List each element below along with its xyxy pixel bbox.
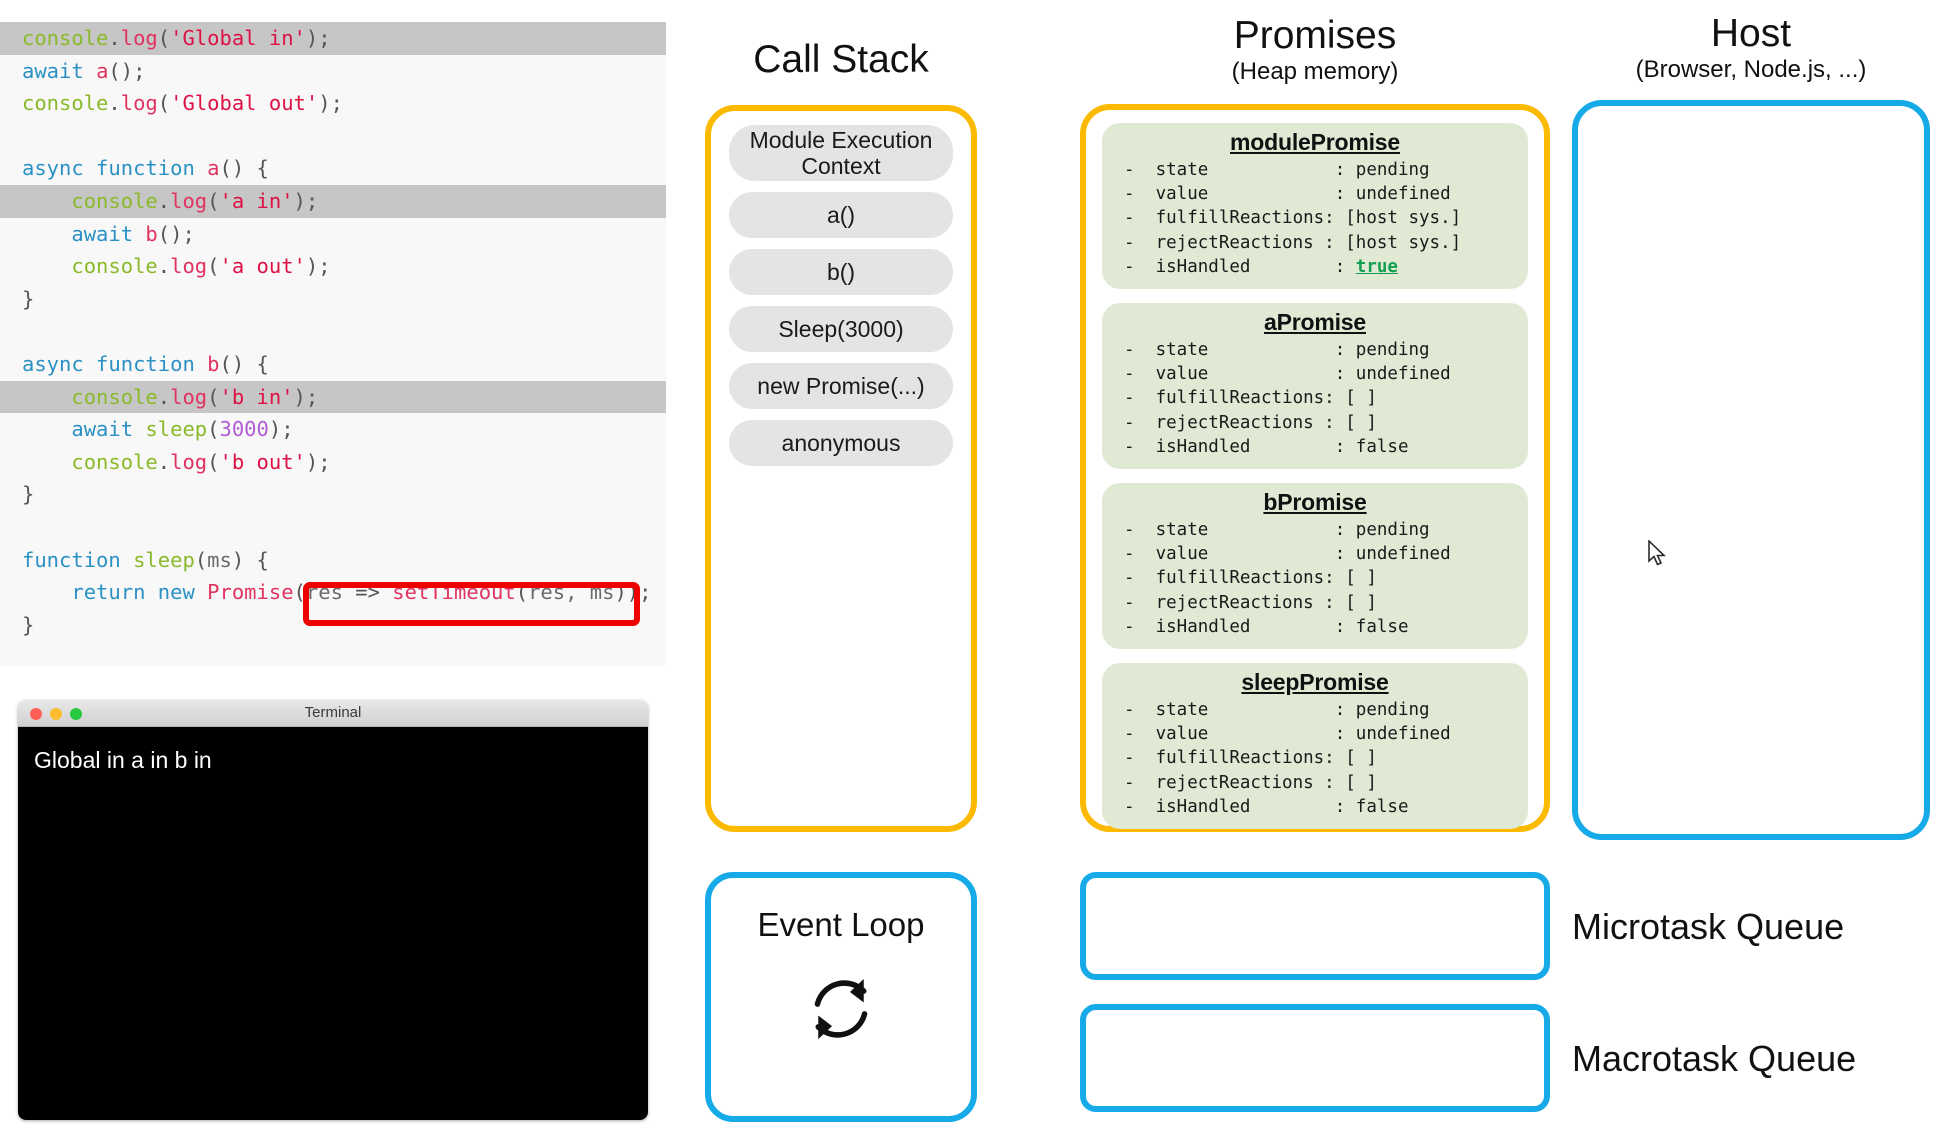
host-panel (1572, 100, 1930, 840)
promise-field-key: - value : (1124, 724, 1356, 744)
promise-field-row: - value : undefined (1124, 182, 1528, 206)
promises-subtitle: (Heap memory) (1080, 58, 1550, 86)
code-token: await (22, 59, 96, 83)
code-token: )); (614, 580, 651, 604)
promise-field-key: - state : (1124, 340, 1356, 360)
promise-field-value: true (1356, 257, 1398, 277)
promise-card: aPromise- state : pending- value : undef… (1102, 303, 1528, 469)
code-token: (); (108, 59, 145, 83)
promise-name: sleepPromise (1102, 669, 1528, 696)
code-token: => (343, 580, 392, 604)
code-token: ( (207, 385, 219, 409)
code-token: 3000 (219, 417, 268, 441)
code-token: log (170, 385, 207, 409)
code-token: log (170, 189, 207, 213)
promises-title: Promises (1080, 14, 1550, 58)
code-token: ); (318, 91, 343, 115)
code-token: ); (306, 26, 331, 50)
promise-field-row: - fulfillReactions: [ ] (1124, 566, 1528, 590)
promise-field-row: - state : pending (1124, 518, 1528, 542)
code-line: async function b() { (0, 348, 666, 381)
code-token: ( (207, 450, 219, 474)
promise-field-key: - value : (1124, 544, 1356, 564)
promise-field-row: - state : pending (1124, 338, 1528, 362)
promise-fields: - state : pending- value : undefined- fu… (1102, 698, 1528, 819)
promise-field-row: - isHandled : true (1124, 255, 1528, 279)
terminal-title: Terminal (18, 704, 648, 721)
promise-field-value: undefined (1356, 724, 1451, 744)
code-token: return (22, 580, 158, 604)
macrotask-queue-box (1080, 1004, 1550, 1112)
promise-field-key: - state : (1124, 700, 1356, 720)
promise-name: modulePromise (1102, 129, 1528, 156)
promise-field-row: - isHandled : false (1124, 435, 1528, 459)
code-line: await b(); (0, 218, 666, 251)
promise-field-row: - rejectReactions : [host sys.] (1124, 231, 1528, 255)
promise-field-value: [ ] (1345, 568, 1377, 588)
code-token: console (22, 254, 158, 278)
code-token: log (170, 450, 207, 474)
call-stack-frame-label: new Promise(...) (757, 373, 924, 400)
promise-field-key: - fulfillReactions: (1124, 748, 1345, 768)
code-token: . (158, 385, 170, 409)
code-token: 'b in' (219, 385, 293, 409)
call-stack-frame[interactable]: a() (729, 192, 953, 238)
code-token: sleep (133, 548, 195, 572)
promise-fields: - state : pending- value : undefined- fu… (1102, 518, 1528, 639)
host-title: Host (1560, 12, 1942, 56)
macrotask-queue-label: Macrotask Queue (1572, 1038, 1856, 1080)
call-stack-title: Call Stack (705, 38, 977, 82)
code-token: ); (269, 417, 294, 441)
promise-field-value: [host sys.] (1345, 208, 1461, 228)
promise-name: aPromise (1102, 309, 1528, 336)
promise-card: sleepPromise- state : pending- value : u… (1102, 663, 1528, 829)
call-stack-frame-label: Module Execution Context (750, 127, 933, 179)
promise-field-row: - fulfillReactions: [ ] (1124, 386, 1528, 410)
promise-field-key: - rejectReactions : (1124, 593, 1345, 613)
code-line (0, 120, 666, 153)
mouse-cursor-icon (1648, 540, 1668, 573)
promise-field-value: [ ] (1345, 773, 1377, 793)
code-token: ); (294, 189, 319, 213)
code-token: ms (207, 548, 232, 572)
promise-field-row: - state : pending (1124, 698, 1528, 722)
promise-field-row: - fulfillReactions: [host sys.] (1124, 206, 1528, 230)
code-token: log (121, 26, 158, 50)
promise-fields: - state : pending- value : undefined- fu… (1102, 338, 1528, 459)
code-line: } (0, 609, 666, 642)
code-token: console (22, 450, 158, 474)
promise-field-value: [ ] (1345, 593, 1377, 613)
promise-field-key: - rejectReactions : (1124, 413, 1345, 433)
code-token: b (145, 222, 157, 246)
promise-field-value: pending (1356, 700, 1430, 720)
code-token: ( (158, 26, 170, 50)
promise-field-key: - fulfillReactions: (1124, 568, 1345, 588)
code-line: } (0, 478, 666, 511)
code-line: await a(); (0, 55, 666, 88)
code-token: 'b out' (219, 450, 305, 474)
promise-field-row: - isHandled : false (1124, 615, 1528, 639)
code-token: ); (294, 385, 319, 409)
code-token: 'a in' (219, 189, 293, 213)
code-token: ( (516, 580, 528, 604)
code-token: new (158, 580, 207, 604)
code-token: (); (158, 222, 195, 246)
promise-name: bPromise (1102, 489, 1528, 516)
promise-field-key: - isHandled : (1124, 617, 1356, 637)
call-stack-frame[interactable]: new Promise(...) (729, 363, 953, 409)
promise-field-key: - rejectReactions : (1124, 773, 1345, 793)
code-token: ); (306, 254, 331, 278)
code-token: () { (219, 352, 268, 376)
code-token: a (207, 156, 219, 180)
promise-field-value: false (1356, 437, 1409, 457)
call-stack-frame-label: b() (827, 259, 855, 286)
code-line: await sleep(3000); (0, 413, 666, 446)
code-line: async function a() { (0, 152, 666, 185)
code-token: function (22, 548, 133, 572)
promise-field-key: - fulfillReactions: (1124, 388, 1345, 408)
code-token: async function (22, 352, 207, 376)
promise-field-value: [ ] (1345, 413, 1377, 433)
code-line: console.log('b out'); (0, 446, 666, 479)
code-token: console (22, 189, 158, 213)
call-stack-frame[interactable]: anonymous (729, 420, 953, 466)
promise-field-key: - fulfillReactions: (1124, 208, 1345, 228)
host-subtitle: (Browser, Node.js, ...) (1560, 56, 1942, 84)
terminal-output: Global in a in b in (18, 727, 648, 1120)
code-token: b (207, 352, 219, 376)
code-token: 'a out' (219, 254, 305, 278)
promise-field-key: - state : (1124, 160, 1356, 180)
call-stack-panel: Module Execution Contexta()b()Sleep(3000… (705, 105, 977, 832)
code-line: } (0, 283, 666, 316)
code-token: ( (207, 417, 219, 441)
code-token: console (22, 91, 108, 115)
event-loop-panel: Event Loop (705, 872, 977, 1122)
code-token: async function (22, 156, 207, 180)
promise-field-row: - fulfillReactions: [ ] (1124, 746, 1528, 770)
code-token: await (22, 417, 145, 441)
code-line: console.log('b in'); (0, 381, 666, 414)
refresh-loop-icon (802, 970, 880, 1053)
promise-field-row: - state : pending (1124, 158, 1528, 182)
promise-field-value: pending (1356, 340, 1430, 360)
call-stack-frame-label: Sleep(3000) (778, 316, 903, 343)
call-stack-frame-label: anonymous (782, 430, 901, 457)
promise-field-key: - rejectReactions : (1124, 233, 1345, 253)
promise-field-row: - value : undefined (1124, 722, 1528, 746)
promise-field-row: - rejectReactions : [ ] (1124, 591, 1528, 615)
code-token: await (22, 222, 145, 246)
code-token: 'Global out' (170, 91, 318, 115)
code-token: log (170, 254, 207, 278)
code-token: . (108, 91, 120, 115)
promise-field-value: [ ] (1345, 388, 1377, 408)
code-token: console (22, 385, 158, 409)
code-token: } (22, 482, 34, 506)
code-token: } (22, 287, 34, 311)
code-token: console (22, 26, 108, 50)
code-line: console.log('a in'); (0, 185, 666, 218)
code-token: sleep (145, 417, 207, 441)
promise-field-row: - value : undefined (1124, 362, 1528, 386)
promise-field-value: pending (1356, 520, 1430, 540)
microtask-queue-box (1080, 872, 1550, 980)
promise-field-key: - isHandled : (1124, 797, 1356, 817)
promise-field-value: false (1356, 797, 1409, 817)
call-stack-frame[interactable]: b() (729, 249, 953, 295)
code-token: . (108, 26, 120, 50)
code-token: } (22, 613, 34, 637)
promise-field-key: - value : (1124, 184, 1356, 204)
promise-field-value: undefined (1356, 364, 1451, 384)
code-token: ) { (232, 548, 269, 572)
call-stack-frame[interactable]: Module Execution Context (729, 125, 953, 181)
code-token: ( (158, 91, 170, 115)
promise-field-key: - isHandled : (1124, 437, 1356, 457)
promise-field-value: false (1356, 617, 1409, 637)
promise-field-key: - state : (1124, 520, 1356, 540)
code-token: ( (294, 580, 306, 604)
terminal-titlebar[interactable]: Terminal (18, 700, 648, 727)
code-line: console.log('a out'); (0, 250, 666, 283)
code-line: return new Promise(res => setTimeout(res… (0, 576, 666, 609)
code-token: setTimeout (392, 580, 515, 604)
promise-field-key: - isHandled : (1124, 257, 1356, 277)
promise-field-key: - value : (1124, 364, 1356, 384)
promise-field-value: undefined (1356, 544, 1451, 564)
code-token: ( (207, 254, 219, 278)
code-line: console.log('Global out'); (0, 87, 666, 120)
promise-field-row: - isHandled : false (1124, 795, 1528, 819)
code-line (0, 511, 666, 544)
code-token: ( (195, 548, 207, 572)
promises-panel: modulePromise- state : pending- value : … (1080, 104, 1550, 832)
promise-field-value: [host sys.] (1345, 233, 1461, 253)
code-token: () { (219, 156, 268, 180)
promise-field-row: - rejectReactions : [ ] (1124, 771, 1528, 795)
promise-card: modulePromise- state : pending- value : … (1102, 123, 1528, 289)
promise-fields: - state : pending- value : undefined- fu… (1102, 158, 1528, 279)
code-editor[interactable]: console.log('Global in');await a();conso… (0, 22, 666, 666)
code-line: function sleep(ms) { (0, 544, 666, 577)
promise-field-value: pending (1356, 160, 1430, 180)
code-token: 'Global in' (170, 26, 306, 50)
code-line: console.log('Global in'); (0, 22, 666, 55)
call-stack-frame[interactable]: Sleep(3000) (729, 306, 953, 352)
promise-field-value: [ ] (1345, 748, 1377, 768)
terminal-window[interactable]: Terminal Global in a in b in (18, 700, 648, 1120)
event-loop-label: Event Loop (758, 906, 925, 944)
call-stack-frame-label: a() (827, 202, 855, 229)
code-token: . (158, 189, 170, 213)
code-line (0, 315, 666, 348)
code-token: res, ms (528, 580, 614, 604)
code-token: res (306, 580, 343, 604)
promise-field-row: - rejectReactions : [ ] (1124, 411, 1528, 435)
code-token: Promise (207, 580, 293, 604)
code-token: log (121, 91, 158, 115)
promise-field-row: - value : undefined (1124, 542, 1528, 566)
code-token: a (96, 59, 108, 83)
code-token: . (158, 254, 170, 278)
code-token: . (158, 450, 170, 474)
promise-card: bPromise- state : pending- value : undef… (1102, 483, 1528, 649)
microtask-queue-label: Microtask Queue (1572, 906, 1844, 948)
code-token: ); (306, 450, 331, 474)
code-token: ( (207, 189, 219, 213)
promise-field-value: undefined (1356, 184, 1451, 204)
